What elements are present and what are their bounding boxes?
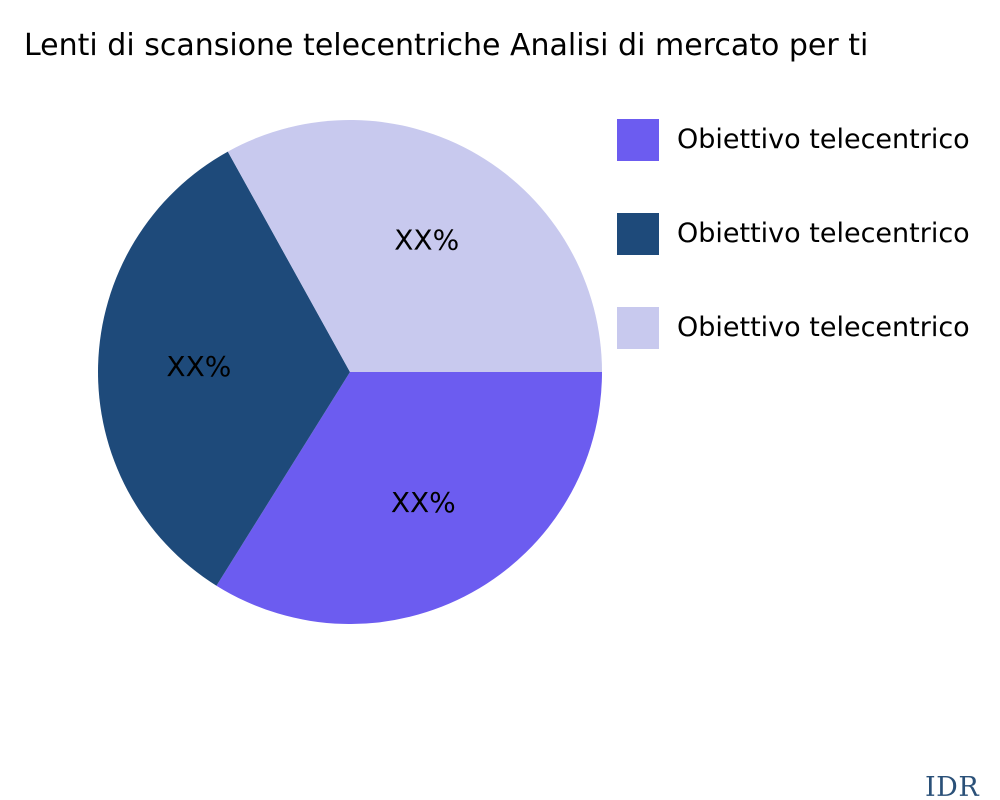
page-title: Lenti di scansione telecentriche Analisi…	[24, 27, 1000, 65]
pie-slice-label: XX%	[394, 224, 459, 257]
legend: Obiettivo telecentricoObiettivo telecent…	[617, 119, 1000, 401]
footer-watermark: IDR	[925, 772, 979, 800]
legend-color-swatch	[617, 213, 659, 255]
pie-chart-svg: XX%XX%XX%	[98, 120, 602, 624]
legend-color-swatch	[617, 119, 659, 161]
legend-item[interactable]: Obiettivo telecentrico	[617, 119, 1000, 161]
pie-slice-label: XX%	[391, 486, 456, 519]
legend-item[interactable]: Obiettivo telecentrico	[617, 307, 1000, 349]
pie-chart: XX%XX%XX%	[98, 120, 602, 624]
legend-item-label: Obiettivo telecentrico	[677, 213, 970, 255]
chart-page: Lenti di scansione telecentriche Analisi…	[0, 0, 1000, 800]
legend-item-label: Obiettivo telecentrico	[677, 307, 970, 349]
legend-item-label: Obiettivo telecentrico	[677, 119, 970, 161]
pie-slice-label: XX%	[166, 350, 231, 383]
legend-item[interactable]: Obiettivo telecentrico	[617, 213, 1000, 255]
legend-color-swatch	[617, 307, 659, 349]
